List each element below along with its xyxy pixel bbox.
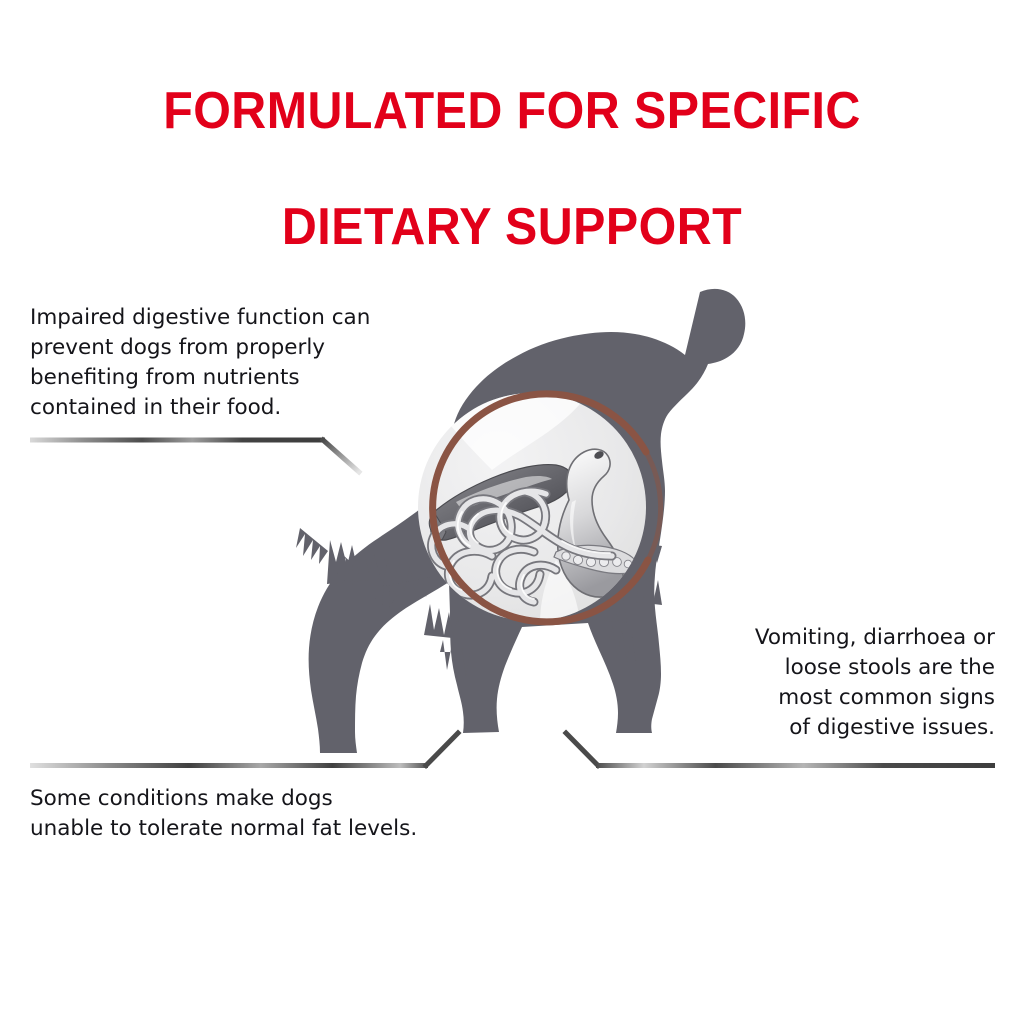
callout-impaired-digestive-function: Impaired digestive function can prevent … [30,303,450,423]
infographic-canvas: FORMULATED FOR SPECIFIC DIETARY SUPPORT … [0,0,1024,1024]
leader-line-top-left [30,438,359,473]
leader-line-bottom-left [30,733,458,768]
page-title-line-1: FORMULATED FOR SPECIFIC [36,82,988,140]
page-title: FORMULATED FOR SPECIFIC DIETARY SUPPORT [36,24,988,314]
callout-vomiting-diarrhoea: Vomiting, diarrhoea or loose stools are … [690,623,995,743]
page-title-line-2: DIETARY SUPPORT [36,198,988,256]
callout-fat-levels: Some conditions make dogs unable to tole… [30,784,550,844]
